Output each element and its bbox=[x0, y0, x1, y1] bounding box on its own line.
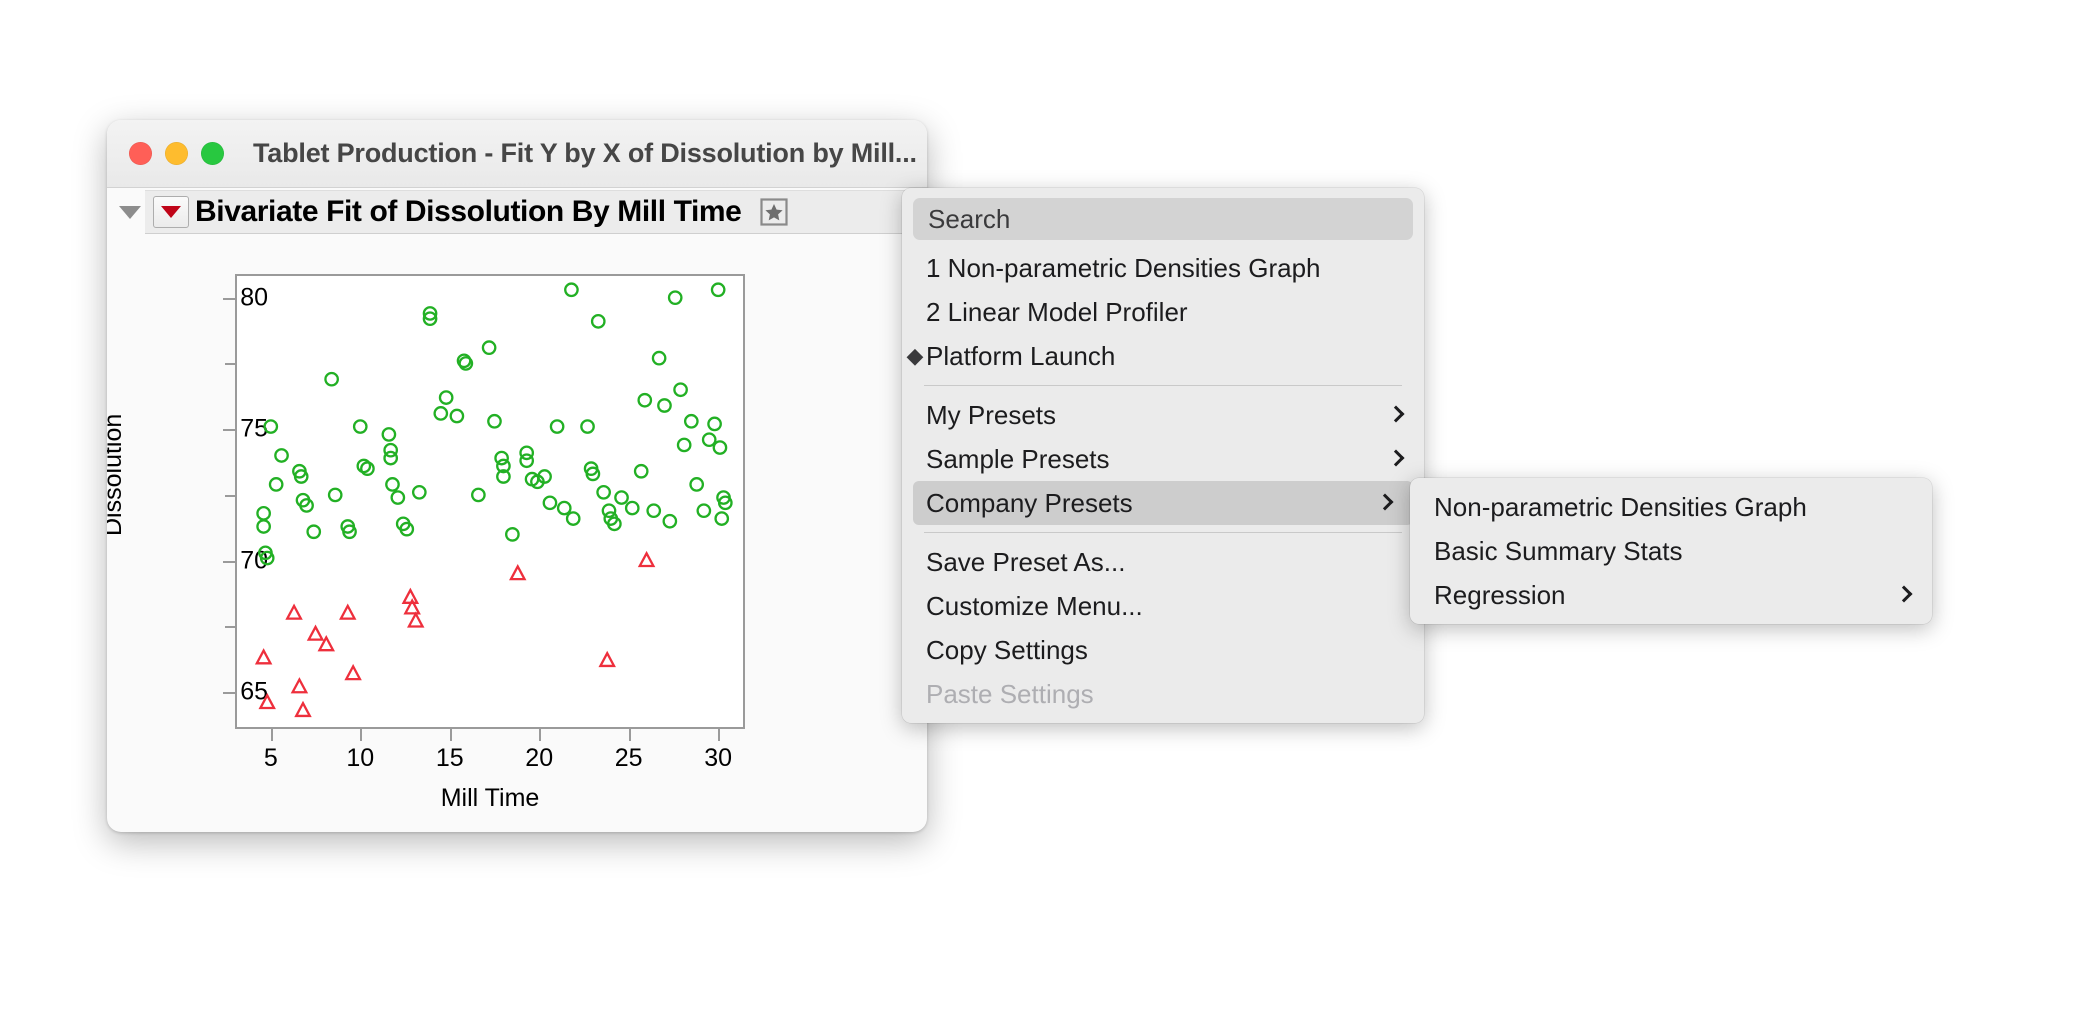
menu-search-field[interactable]: Search bbox=[913, 198, 1413, 240]
submenu-items-group: Non-parametric Densities GraphBasic Summ… bbox=[1410, 485, 1932, 617]
chevron-right-icon bbox=[1388, 451, 1404, 467]
x-axis-tick-label: 30 bbox=[688, 744, 748, 773]
preset-star-icon[interactable] bbox=[757, 195, 791, 229]
data-point-triangle bbox=[640, 553, 654, 566]
chevron-right-icon bbox=[1388, 407, 1404, 423]
x-axis-tick bbox=[450, 729, 452, 741]
data-point-triangle bbox=[257, 651, 271, 664]
data-point-circle bbox=[551, 420, 563, 432]
data-point-triangle bbox=[287, 606, 301, 619]
data-point-triangle bbox=[600, 653, 614, 666]
chevron-right-icon bbox=[1896, 587, 1912, 603]
window-titlebar: Tablet Production - Fit Y by X of Dissol… bbox=[107, 120, 927, 188]
data-point-circle bbox=[383, 428, 395, 440]
data-point-circle bbox=[712, 284, 724, 296]
data-point-triangle bbox=[346, 666, 360, 679]
submenu-item-non-parametric-densities-graph[interactable]: Non-parametric Densities Graph bbox=[1410, 485, 1932, 529]
red-triangle-context-menu: Search 1 Non-parametric Densities Graph2… bbox=[902, 188, 1424, 723]
submenu-item-regression[interactable]: Regression bbox=[1410, 573, 1932, 617]
data-point-circle bbox=[690, 478, 702, 490]
data-point-circle bbox=[506, 528, 518, 540]
menu-item-company-presets[interactable]: Company Presets bbox=[913, 481, 1413, 525]
data-point-circle bbox=[544, 497, 556, 509]
x-axis-tick-label: 20 bbox=[509, 744, 569, 773]
menu-item-1-non-parametric-densities-graph[interactable]: 1 Non-parametric Densities Graph bbox=[902, 246, 1424, 290]
jmp-report-window: Tablet Production - Fit Y by X of Dissol… bbox=[107, 120, 927, 832]
data-point-circle bbox=[384, 452, 396, 464]
x-axis-tick-label: 15 bbox=[420, 744, 480, 773]
series-fail bbox=[257, 553, 654, 716]
x-axis-tick bbox=[718, 729, 720, 741]
menu-item-label: 1 Non-parametric Densities Graph bbox=[926, 253, 1321, 284]
data-point-circle bbox=[257, 520, 269, 532]
menu-item-my-presets[interactable]: My Presets bbox=[902, 393, 1424, 437]
data-point-circle bbox=[308, 526, 320, 538]
data-point-circle bbox=[597, 486, 609, 498]
data-point-circle bbox=[698, 505, 710, 517]
x-axis-label: Mill Time bbox=[235, 784, 745, 813]
data-point-circle bbox=[714, 441, 726, 453]
data-point-circle bbox=[592, 315, 604, 327]
menu-item-label: Company Presets bbox=[926, 488, 1133, 519]
data-point-triangle bbox=[511, 566, 525, 579]
data-point-circle bbox=[669, 291, 681, 303]
data-point-circle bbox=[386, 478, 398, 490]
data-point-circle bbox=[265, 420, 277, 432]
data-point-triangle bbox=[409, 614, 423, 627]
data-point-circle bbox=[648, 505, 660, 517]
menu-item-label: Regression bbox=[1434, 580, 1566, 611]
data-points-layer bbox=[235, 274, 745, 729]
y-axis-label: Dissolution bbox=[107, 414, 128, 536]
data-point-circle bbox=[257, 507, 269, 519]
y-axis-minor-tick bbox=[225, 495, 235, 497]
minimize-button[interactable] bbox=[165, 142, 188, 165]
disclosure-triangle-down-icon[interactable] bbox=[115, 188, 145, 236]
data-point-circle bbox=[413, 486, 425, 498]
data-point-circle bbox=[674, 384, 686, 396]
menu-item-label: Paste Settings bbox=[926, 679, 1094, 710]
data-point-circle bbox=[678, 439, 690, 451]
menu-item-2-linear-model-profiler[interactable]: 2 Linear Model Profiler bbox=[902, 290, 1424, 334]
red-triangle-menu-icon[interactable] bbox=[153, 196, 189, 228]
x-axis-tick bbox=[271, 729, 273, 741]
data-point-circle bbox=[275, 449, 287, 461]
data-point-circle bbox=[615, 491, 627, 503]
chevron-right-icon bbox=[1377, 495, 1393, 511]
data-point-circle bbox=[581, 420, 593, 432]
report-header: Bivariate Fit of Dissolution By Mill Tim… bbox=[107, 188, 927, 236]
menu-item-label: Basic Summary Stats bbox=[1434, 536, 1683, 567]
data-point-circle bbox=[440, 391, 452, 403]
page-title: Bivariate Fit of Dissolution By Mill Tim… bbox=[195, 195, 741, 229]
report-title-bar: Bivariate Fit of Dissolution By Mill Tim… bbox=[145, 190, 927, 234]
data-point-circle bbox=[325, 373, 337, 385]
y-axis-minor-tick bbox=[225, 363, 235, 365]
data-point-triangle bbox=[341, 606, 355, 619]
bivariate-scatter-plot: Dissolution 6570758051015202530 Mill Tim… bbox=[107, 236, 927, 796]
data-point-circle bbox=[483, 341, 495, 353]
y-axis-minor-tick bbox=[225, 626, 235, 628]
menu-item-label: Save Preset As... bbox=[926, 547, 1125, 578]
x-axis-tick bbox=[539, 729, 541, 741]
menu-divider bbox=[924, 532, 1402, 533]
data-point-circle bbox=[270, 478, 282, 490]
menu-item-copy-settings[interactable]: Copy Settings bbox=[902, 628, 1424, 672]
menu-item-customize-menu[interactable]: Customize Menu... bbox=[902, 584, 1424, 628]
menu-item-label: 2 Linear Model Profiler bbox=[926, 297, 1188, 328]
data-point-circle bbox=[565, 284, 577, 296]
menu-item-label: Platform Launch bbox=[926, 341, 1115, 372]
data-point-circle bbox=[653, 352, 665, 364]
data-point-circle bbox=[472, 489, 484, 501]
data-point-triangle bbox=[293, 680, 307, 693]
window-title: Tablet Production - Fit Y by X of Dissol… bbox=[253, 138, 917, 169]
menu-item-sample-presets[interactable]: Sample Presets bbox=[902, 437, 1424, 481]
platform-launch-diamond-icon: ◆ bbox=[902, 343, 928, 369]
series-pass bbox=[257, 284, 731, 565]
data-point-circle bbox=[558, 502, 570, 514]
x-axis-tick-label: 10 bbox=[330, 744, 390, 773]
data-point-circle bbox=[392, 491, 404, 503]
data-point-triangle bbox=[309, 627, 323, 640]
menu-search-placeholder: Search bbox=[928, 204, 1010, 235]
menu-item-label: Copy Settings bbox=[926, 635, 1088, 666]
data-point-triangle bbox=[404, 590, 418, 603]
data-point-circle bbox=[361, 462, 373, 474]
data-point-circle bbox=[635, 465, 647, 477]
data-point-circle bbox=[685, 415, 697, 427]
data-point-circle bbox=[639, 394, 651, 406]
close-button[interactable] bbox=[129, 142, 152, 165]
data-point-circle bbox=[435, 407, 447, 419]
company-presets-submenu: Non-parametric Densities GraphBasic Summ… bbox=[1410, 478, 1932, 624]
x-axis-tick-label: 5 bbox=[241, 744, 301, 773]
menu-actions-group: Save Preset As...Customize Menu...Copy S… bbox=[902, 540, 1424, 716]
data-point-circle bbox=[626, 502, 638, 514]
maximize-button[interactable] bbox=[201, 142, 224, 165]
menu-recent-items-group: 1 Non-parametric Densities Graph2 Linear… bbox=[902, 246, 1424, 378]
menu-item-label: My Presets bbox=[926, 400, 1056, 431]
data-point-circle bbox=[716, 512, 728, 524]
menu-item-label: Non-parametric Densities Graph bbox=[1434, 492, 1807, 523]
menu-item-paste-settings: Paste Settings bbox=[902, 672, 1424, 716]
x-axis-tick-label: 25 bbox=[599, 744, 659, 773]
data-point-triangle bbox=[260, 695, 274, 708]
data-point-circle bbox=[708, 418, 720, 430]
data-point-circle bbox=[451, 410, 463, 422]
menu-presets-group: My PresetsSample PresetsCompany Presets bbox=[902, 393, 1424, 525]
menu-item-save-preset-as[interactable]: Save Preset As... bbox=[902, 540, 1424, 584]
menu-item-label: Sample Presets bbox=[926, 444, 1110, 475]
data-point-circle bbox=[664, 515, 676, 527]
data-point-circle bbox=[567, 512, 579, 524]
data-point-circle bbox=[658, 399, 670, 411]
menu-item-platform-launch[interactable]: ◆Platform Launch bbox=[902, 334, 1424, 378]
data-point-circle bbox=[354, 420, 366, 432]
menu-item-label: Customize Menu... bbox=[926, 591, 1143, 622]
data-point-circle bbox=[329, 489, 341, 501]
data-point-circle bbox=[488, 415, 500, 427]
data-point-triangle bbox=[296, 703, 310, 716]
submenu-item-basic-summary-stats[interactable]: Basic Summary Stats bbox=[1410, 529, 1932, 573]
data-point-circle bbox=[520, 455, 532, 467]
x-axis-tick bbox=[360, 729, 362, 741]
menu-divider bbox=[924, 385, 1402, 386]
x-axis-tick bbox=[629, 729, 631, 741]
